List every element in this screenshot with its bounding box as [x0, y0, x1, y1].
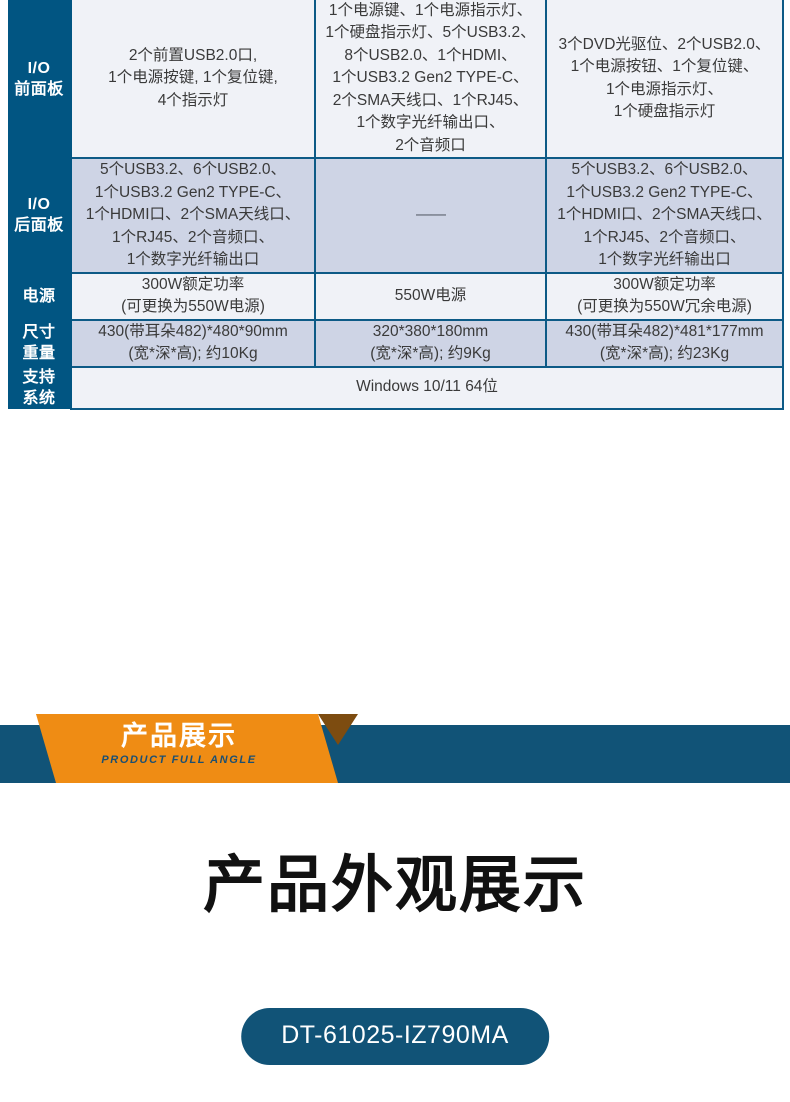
cell-dimensions-col2: 320*380*180mm (宽*深*高); 约9Kg: [315, 320, 546, 367]
model-number-badge: DT-61025-IZ790MA: [241, 1008, 549, 1065]
row-label-line: 尺寸: [8, 322, 70, 343]
cell-io-rear-col3: 5个USB3.2、6个USB2.0、 1个USB3.2 Gen2 TYPE-C、…: [546, 158, 783, 272]
cell-dimensions-col3: 430(带耳朵482)*481*177mm (宽*深*高); 约23Kg: [546, 320, 783, 367]
cell-power-col2: 550W电源: [315, 273, 546, 320]
cell-power-col1: 300W额定功率 (可更换为550W电源): [71, 273, 315, 320]
table-row-power-supply: 电源 300W额定功率 (可更换为550W电源) 550W电源 300W额定功率…: [8, 273, 783, 320]
row-label-line: I/O: [8, 194, 70, 215]
cell-power-col3: 300W额定功率 (可更换为550W冗余电源): [546, 273, 783, 320]
row-label-line: 电源: [8, 286, 70, 307]
banner-ribbon-graphic: [0, 705, 790, 783]
row-label-supported-os: 支持 系统: [8, 367, 71, 409]
row-label-power-supply: 电源: [8, 273, 71, 320]
cell-io-rear-col2-not-applicable: ——: [315, 158, 546, 272]
table-row-supported-os: 支持 系统 Windows 10/11 64位: [8, 367, 783, 409]
row-label-io-front-panel: I/O 前面板: [8, 0, 71, 158]
cell-dimensions-col1: 430(带耳朵482)*480*90mm (宽*深*高); 约10Kg: [71, 320, 315, 367]
cell-io-front-col2: 1个电源键、1个电源指示灯、 1个硬盘指示灯、5个USB3.2、 8个USB2.…: [315, 0, 546, 158]
table-row-io-rear-panel: I/O 后面板 5个USB3.2、6个USB2.0、 1个USB3.2 Gen2…: [8, 158, 783, 272]
cell-io-front-col3: 3个DVD光驱位、2个USB2.0、 1个电源按钮、1个复位键、 1个电源指示灯…: [546, 0, 783, 158]
row-label-dimensions-weight: 尺寸 重量: [8, 320, 71, 367]
showcase-heading: 产品外观展示: [0, 855, 790, 917]
cell-supported-os-merged: Windows 10/11 64位: [71, 367, 783, 409]
specifications-table: I/O 前面板 2个前置USB2.0口, 1个电源按键, 1个复位键, 4个指示…: [8, 0, 784, 410]
row-label-line: 系统: [8, 388, 70, 409]
row-label-line: 支持: [8, 367, 70, 388]
row-label-line: 后面板: [8, 215, 70, 236]
row-label-line: 重量: [8, 343, 70, 364]
row-label-line: I/O: [8, 58, 70, 79]
table-row-dimensions-weight: 尺寸 重量 430(带耳朵482)*480*90mm (宽*深*高); 约10K…: [8, 320, 783, 367]
row-label-io-rear-panel: I/O 后面板: [8, 158, 71, 272]
section-banner-product-showcase: 产品展示 PRODUCT FULL ANGLE: [0, 705, 790, 783]
table-row-io-front-panel: I/O 前面板 2个前置USB2.0口, 1个电源按键, 1个复位键, 4个指示…: [8, 0, 783, 158]
row-label-line: 前面板: [8, 79, 70, 100]
specifications-table-body: I/O 前面板 2个前置USB2.0口, 1个电源按键, 1个复位键, 4个指示…: [8, 0, 783, 409]
cell-io-front-col1: 2个前置USB2.0口, 1个电源按键, 1个复位键, 4个指示灯: [71, 0, 315, 158]
cell-io-rear-col1: 5个USB3.2、6个USB2.0、 1个USB3.2 Gen2 TYPE-C、…: [71, 158, 315, 272]
banner-orange-ribbon: [36, 714, 338, 783]
